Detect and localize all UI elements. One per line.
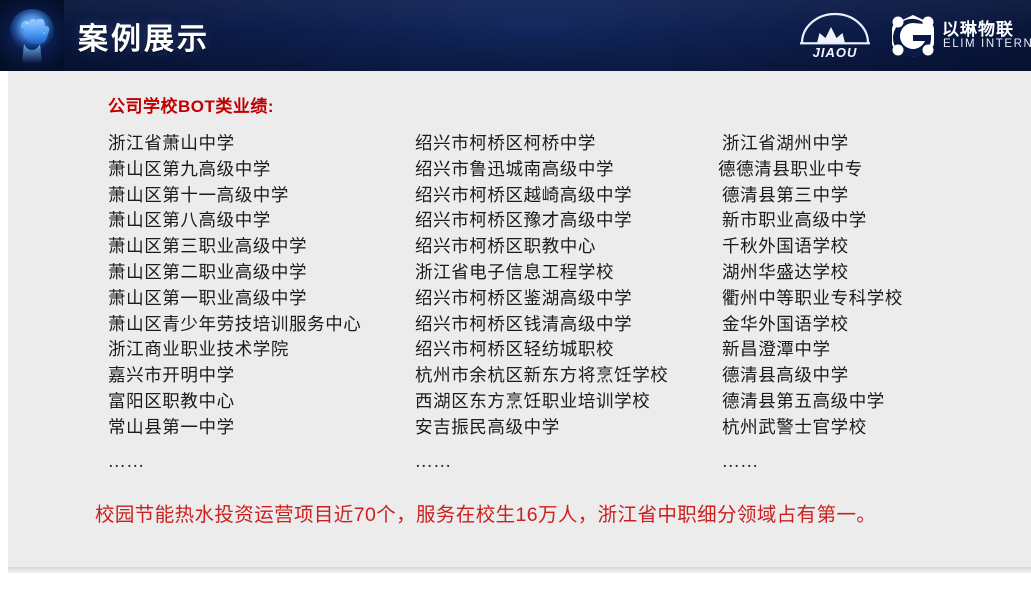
school-name: 萧山区青少年劳技培训服务中心 xyxy=(108,312,361,338)
school-name: 绍兴市柯桥区轻纺城职校 xyxy=(415,337,668,363)
school-name: 绍兴市柯桥区柯桥中学 xyxy=(415,131,668,157)
school-column: 绍兴市柯桥区柯桥中学绍兴市鲁迅城南高级中学绍兴市柯桥区越崎高级中学绍兴市柯桥区豫… xyxy=(415,131,668,474)
school-name: 德清县高级中学 xyxy=(722,363,903,389)
hexagon-g-icon xyxy=(890,14,936,58)
page-title: 案例展示 xyxy=(78,14,210,58)
school-name: 绍兴市柯桥区职教中心 xyxy=(415,234,668,260)
school-name: 德清县第五高级中学 xyxy=(722,389,903,415)
logo-elim: 以琳物联 ELIM INTERNET xyxy=(890,12,1022,60)
logo-elim-text-en: ELIM INTERNET xyxy=(943,38,1031,50)
school-name: 绍兴市柯桥区越崎高级中学 xyxy=(415,183,668,209)
school-name: 萧山区第十一高级中学 xyxy=(108,183,361,209)
section-title: 公司学校BOT类业绩: xyxy=(108,92,274,117)
school-name: 萧山区第八高级中学 xyxy=(108,208,361,234)
school-name: 浙江省电子信息工程学校 xyxy=(415,260,668,286)
slide: 案例展示 JIAOU 以琳物联 ELIM INTERNET xyxy=(0,0,1031,589)
school-name: 萧山区第九高级中学 xyxy=(108,157,361,183)
school-name: 千秋外国语学校 xyxy=(722,234,903,260)
school-name: 浙江省萧山中学 xyxy=(108,131,361,157)
school-name: 西湖区东方烹饪职业培训学校 xyxy=(415,389,668,415)
school-name: 嘉兴市开明中学 xyxy=(108,363,361,389)
school-name: 绍兴市柯桥区豫才高级中学 xyxy=(415,208,668,234)
school-name: 萧山区第三职业高级中学 xyxy=(108,234,361,260)
header-bar: 案例展示 JIAOU 以琳物联 ELIM INTERNET xyxy=(0,0,1031,71)
school-name: 绍兴市鲁迅城南高级中学 xyxy=(415,157,668,183)
school-name: 富阳区职教中心 xyxy=(108,389,361,415)
column-ellipsis: …… xyxy=(415,449,668,475)
school-name: 萧山区第一职业高级中学 xyxy=(108,286,361,312)
fist-logo-block xyxy=(0,0,64,71)
school-name: 绍兴市柯桥区钱清高级中学 xyxy=(415,312,668,338)
school-name: 常山县第一中学 xyxy=(108,415,361,441)
school-name: 绍兴市柯桥区鉴湖高级中学 xyxy=(415,286,668,312)
logo-jiaou-text: JIAOU xyxy=(792,45,878,60)
logo-elim-text-cn: 以琳物联 xyxy=(942,15,1014,40)
school-name: 德德清县职业中专 xyxy=(718,157,903,183)
arch-crown-icon xyxy=(792,12,878,46)
raised-fist-icon xyxy=(8,6,56,66)
logo-jiaou: JIAOU xyxy=(792,12,878,60)
school-name: 新市职业高级中学 xyxy=(722,208,903,234)
school-name: 浙江商业职业技术学院 xyxy=(108,337,361,363)
school-name: 新昌澄潭中学 xyxy=(722,337,903,363)
school-column: 浙江省湖州中学德德清县职业中专德清县第三中学新市职业高级中学千秋外国语学校湖州华… xyxy=(722,131,903,474)
school-name: 湖州华盛达学校 xyxy=(722,260,903,286)
school-name: 衢州中等职业专科学校 xyxy=(722,286,903,312)
school-name: 杭州武警士官学校 xyxy=(722,415,903,441)
school-column: 浙江省萧山中学萧山区第九高级中学萧山区第十一高级中学萧山区第八高级中学萧山区第三… xyxy=(108,131,361,474)
column-ellipsis: …… xyxy=(722,449,903,475)
school-name: 德清县第三中学 xyxy=(722,183,903,209)
school-name: 金华外国语学校 xyxy=(722,312,903,338)
school-name: 安吉振民高级中学 xyxy=(415,415,668,441)
school-name: 萧山区第二职业高级中学 xyxy=(108,260,361,286)
footer-note: 校园节能热水投资运营项目近70个，服务在校生16万人，浙江省中职细分领域占有第一… xyxy=(95,498,876,527)
column-ellipsis: …… xyxy=(108,449,361,475)
school-name: 浙江省湖州中学 xyxy=(722,131,903,157)
school-name: 杭州市余杭区新东方将烹饪学校 xyxy=(415,363,668,389)
slide-bottom-strip xyxy=(0,573,1031,589)
